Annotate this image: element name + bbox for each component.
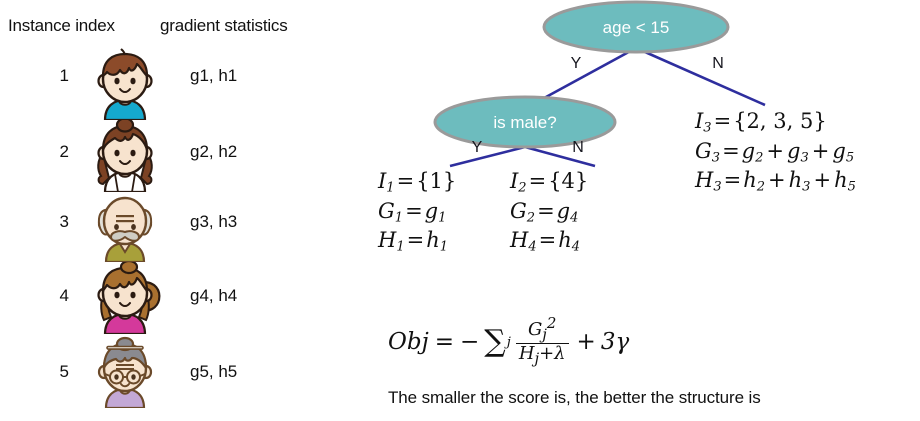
objective-formula: Obj = − ∑j Gj2 Hj+λ + 3γ	[388, 316, 629, 368]
objective-tail: 3γ	[601, 329, 629, 355]
gradient-statistics-value: g2, h2	[190, 142, 237, 162]
avatar-girl-curly-apron	[85, 120, 165, 192]
leaf-2-gradient-sum: G2=g4	[510, 198, 588, 228]
objective-fraction: Gj2 Hj+λ	[516, 316, 569, 368]
edge-root-yes	[535, 48, 636, 103]
column-header-gradient-statistics: gradient statistics	[160, 16, 288, 36]
table-row: 2	[0, 120, 340, 192]
branch-label-root-no: N	[712, 55, 724, 72]
gradient-statistics-value: g3, h3	[190, 212, 237, 232]
leaf-1-gradient-sum: G1=g1	[378, 198, 456, 228]
tree-node-root-label: age < 15	[603, 18, 670, 37]
table-row: 4	[0, 262, 340, 334]
objective-minus: −	[460, 329, 483, 355]
instance-index-value: 1	[45, 66, 69, 86]
tree-node-is-male-label: is male?	[493, 113, 556, 132]
summation-index: j	[507, 335, 511, 350]
leaf-2-hessian-sum: H4=h4	[510, 227, 588, 257]
fraction-numerator: Gj2	[525, 316, 560, 343]
leaf-1-instance-set: I1={1}	[378, 168, 456, 198]
edge-root-no	[636, 48, 765, 105]
gradient-statistics-value: g4, h4	[190, 286, 237, 306]
table-row: 3	[0, 190, 340, 262]
gradient-statistics-value: g5, h5	[190, 362, 237, 382]
column-header-instance-index: Instance index	[8, 16, 115, 36]
summation-icon: ∑	[483, 330, 506, 354]
table-row: 1	[0, 48, 340, 120]
instance-table: Instance index gradient statistics 1	[0, 0, 340, 421]
figure-root: Instance index gradient statistics 1	[0, 0, 920, 421]
branch-label-child-no: N	[572, 139, 584, 156]
branch-label-root-yes: Y	[571, 55, 582, 72]
avatar-boy-teal-shirt	[85, 48, 165, 120]
leaf-2-instance-set: I2={4}	[510, 168, 588, 198]
gradient-statistics-value: g1, h1	[190, 66, 237, 86]
leaf-1-hessian-sum: H1=h1	[378, 227, 456, 257]
instance-index-value: 4	[45, 286, 69, 306]
leaf-3-instance-set: I3={2, 3, 5}	[695, 108, 856, 138]
decision-tree-diagram: age < 15 is male? Y N Y N I1={1} G1=g1 H…	[340, 0, 920, 421]
leaf-stats-1: I1={1} G1=g1 H1=h1	[378, 168, 456, 257]
fraction-denominator: Hj+λ	[516, 343, 569, 368]
objective-lhs: Obj	[388, 329, 429, 355]
instance-index-value: 2	[45, 142, 69, 162]
leaf-stats-2: I2={4} G2=g4 H4=h4	[510, 168, 588, 257]
leaf-3-hessian-sum: H3=h2+h3+h5	[695, 167, 856, 197]
avatar-old-woman-glasses	[85, 336, 165, 408]
branch-label-child-yes: Y	[472, 139, 483, 156]
table-row: 5	[0, 336, 340, 408]
objective-plus: +	[574, 329, 601, 355]
leaf-3-gradient-sum: G3=g2+g3+g5	[695, 138, 856, 168]
avatar-old-man-mustache	[85, 190, 165, 262]
figure-caption: The smaller the score is, the better the…	[388, 388, 761, 408]
leaf-stats-3: I3={2, 3, 5} G3=g2+g3+g5 H3=h2+h3+h5	[695, 108, 856, 197]
edge-child-yes	[450, 147, 525, 166]
instance-index-value: 3	[45, 212, 69, 232]
instance-index-value: 5	[45, 362, 69, 382]
objective-equals: =	[429, 329, 460, 355]
edge-child-no	[525, 147, 595, 166]
avatar-girl-ponytail-pink	[85, 262, 165, 334]
